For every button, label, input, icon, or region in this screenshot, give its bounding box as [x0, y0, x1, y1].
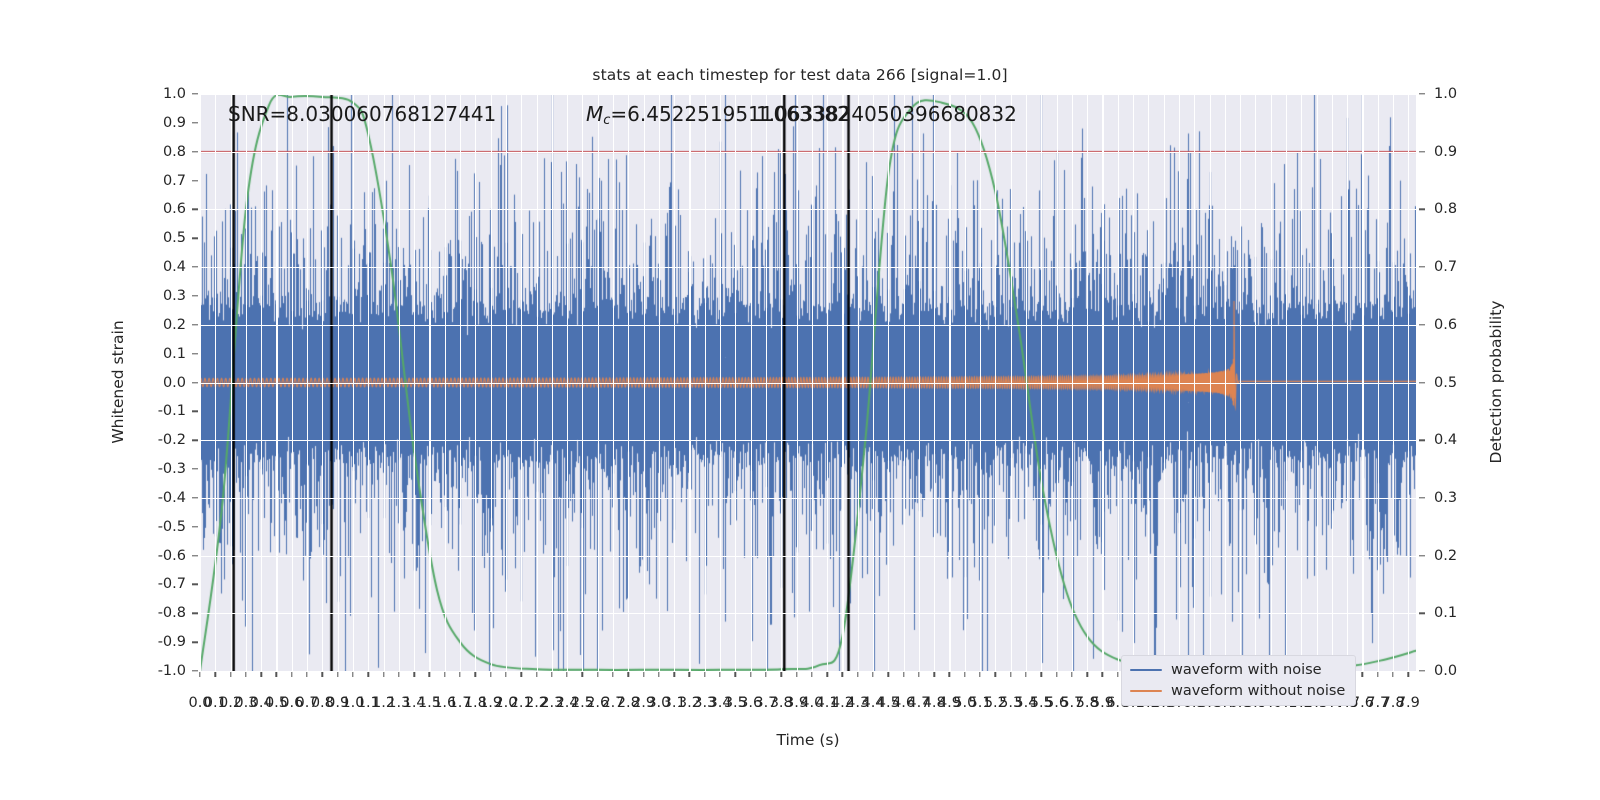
y-axis-left-tick-mark	[192, 353, 198, 354]
x-axis-tick-mark	[215, 672, 216, 677]
x-axis-tick-mark	[857, 672, 858, 677]
y-axis-right-tick-mark	[1419, 439, 1425, 440]
gridline-vertical	[720, 94, 721, 671]
overlap-annotation: 1.0633824050396680832	[756, 102, 1017, 126]
x-axis-tick-mark	[643, 672, 644, 677]
legend-swatch-orange	[1130, 690, 1162, 693]
y-axis-right-tick-mark	[1419, 324, 1425, 325]
x-axis-tick-mark	[352, 672, 353, 677]
gridline-vertical	[980, 94, 981, 671]
y-axis-left-tick-mark	[192, 324, 198, 325]
y-axis-right-tick-mark	[1419, 670, 1425, 671]
x-axis-tick-mark	[536, 672, 537, 677]
gridline-vertical	[735, 94, 736, 671]
y-axis-left-tick-mark	[192, 209, 198, 210]
x-axis-tick-mark	[459, 672, 460, 677]
x-axis-tick-mark	[1408, 672, 1409, 677]
gridline-vertical	[827, 94, 828, 671]
y-axis-left-tick-label: -0.2	[130, 432, 186, 448]
gridline-vertical	[521, 94, 522, 671]
gridline-vertical	[1148, 94, 1149, 671]
y-axis-left-tick-label: 0.7	[130, 173, 186, 189]
x-axis-tick-mark	[811, 672, 812, 677]
y-axis-left-tick-mark	[192, 238, 198, 239]
y-axis-right-tick-label: 1.0	[1434, 86, 1490, 102]
legend[interactable]: waveform with noise waveform without noi…	[1121, 655, 1356, 706]
y-axis-left-tick-mark	[192, 641, 198, 642]
x-axis-tick-mark	[918, 672, 919, 677]
gridline-vertical	[919, 94, 920, 671]
y-axis-right-tick-mark	[1419, 151, 1425, 152]
x-axis-tick-mark	[673, 672, 674, 677]
y-axis-left-tick-label: 0.8	[130, 144, 186, 160]
gridline-vertical	[858, 94, 859, 671]
x-axis-tick-mark	[933, 672, 934, 677]
x-axis-tick-mark	[826, 672, 827, 677]
y-axis-right-tick-label: 0.6	[1434, 317, 1490, 333]
gridline-vertical	[1271, 94, 1272, 671]
y-axis-right-tick-mark	[1419, 497, 1425, 498]
x-axis-tick-mark	[566, 672, 567, 677]
y-axis-right-tick-label: 0.1	[1434, 605, 1490, 621]
y-axis-left-tick-label: -0.5	[130, 519, 186, 535]
gridline-vertical	[1164, 94, 1165, 671]
gridline-vertical	[1194, 94, 1195, 671]
gridline-vertical	[1133, 94, 1134, 671]
y-axis-right-tick-mark	[1419, 555, 1425, 556]
x-axis-tick-mark	[949, 672, 950, 677]
gridline-vertical	[292, 94, 293, 671]
gridline-horizontal	[200, 498, 1416, 499]
x-axis-tick-mark	[979, 672, 980, 677]
y-axis-left-tick-label: -0.8	[130, 605, 186, 621]
y-axis-left-tick-label: -0.9	[130, 634, 186, 650]
x-axis-tick-mark	[322, 672, 323, 677]
gridline-vertical	[598, 94, 599, 671]
gridline-horizontal	[200, 94, 1416, 95]
y-axis-left-tick-label: -0.4	[130, 490, 186, 506]
gridline-vertical	[1087, 94, 1088, 671]
y-axis-left-tick-mark	[192, 584, 198, 585]
y-axis-left-tick-label: 0.3	[130, 288, 186, 304]
gridline-vertical	[582, 94, 583, 671]
x-axis-tick-mark	[306, 672, 307, 677]
y-axis-right-tick-mark	[1419, 93, 1425, 94]
gridline-vertical	[1393, 94, 1394, 671]
x-axis-tick-mark	[429, 672, 430, 677]
y-axis-left-tick-label: -0.7	[130, 576, 186, 592]
gridline-vertical	[1057, 94, 1058, 671]
x-axis-tick-mark	[398, 672, 399, 677]
y-axis-left-tick-label: 1.0	[130, 86, 186, 102]
gridline-vertical	[705, 94, 706, 671]
x-axis-tick-mark	[872, 672, 873, 677]
gridline-vertical	[689, 94, 690, 671]
y-axis-left-tick-label: -0.3	[130, 461, 186, 477]
snr-annotation: SNR=8.030060768127441	[228, 102, 496, 126]
page-title: stats at each timestep for test data 266…	[0, 66, 1600, 84]
x-axis-tick-label: 7.9	[1397, 695, 1420, 711]
y-axis-left-tick-label: 0.1	[130, 346, 186, 362]
gridline-vertical	[1118, 94, 1119, 671]
plot-area	[200, 94, 1416, 671]
gridline-vertical	[1225, 94, 1226, 671]
gridline-vertical	[215, 94, 216, 671]
gridline-horizontal	[200, 383, 1416, 384]
gridline-vertical	[812, 94, 813, 671]
x-axis-tick-mark	[689, 672, 690, 677]
x-axis-tick-mark	[1071, 672, 1072, 677]
x-axis-tick-mark	[413, 672, 414, 677]
y-axis-left-tick-mark	[192, 122, 198, 123]
gridline-vertical	[674, 94, 675, 671]
gridline-vertical	[246, 94, 247, 671]
gridline-vertical	[353, 94, 354, 671]
gridline-vertical	[1347, 94, 1348, 671]
gridline-vertical	[567, 94, 568, 671]
y-axis-left-tick-label: -0.1	[130, 403, 186, 419]
y-axis-right-tick-label: 0.2	[1434, 548, 1490, 564]
legend-label-1: waveform without noise	[1171, 683, 1345, 699]
gridline-horizontal	[200, 613, 1416, 614]
y-axis-left-tick-mark	[192, 439, 198, 440]
gridline-vertical	[1011, 94, 1012, 671]
gridline-vertical	[1286, 94, 1287, 671]
gridline-vertical	[1072, 94, 1073, 671]
legend-item-waveform-with-noise[interactable]: waveform with noise	[1130, 662, 1345, 678]
gridline-horizontal	[200, 440, 1416, 441]
gridline-vertical	[934, 94, 935, 671]
y-axis-left-tick-label: -1.0	[130, 663, 186, 679]
y-axis-left-tick-mark	[192, 295, 198, 296]
x-axis-tick-mark	[1392, 672, 1393, 677]
x-axis-tick-mark	[1102, 672, 1103, 677]
gridline-vertical	[949, 94, 950, 671]
y-axis-right-tick-label: 0.8	[1434, 201, 1490, 217]
legend-item-waveform-without-noise[interactable]: waveform without noise	[1130, 683, 1345, 699]
gridline-vertical	[781, 94, 782, 671]
y-axis-right-title: Detection probability	[1487, 301, 1505, 464]
y-axis-right-tick-mark	[1419, 382, 1425, 383]
gridline-vertical	[842, 94, 843, 671]
y-axis-left-tick-mark	[192, 266, 198, 267]
x-axis-title: Time (s)	[776, 731, 839, 749]
gridline-vertical	[797, 94, 798, 671]
x-axis-tick-mark	[1010, 672, 1011, 677]
gridline-vertical	[276, 94, 277, 671]
gridline-vertical	[1026, 94, 1027, 671]
gridline-vertical	[475, 94, 476, 671]
x-axis-tick-mark	[582, 672, 583, 677]
y-axis-left-tick-label: -0.6	[130, 548, 186, 564]
gridline-vertical	[261, 94, 262, 671]
figure-canvas: stats at each timestep for test data 266…	[0, 0, 1600, 800]
y-axis-left-tick-mark	[192, 382, 198, 383]
x-axis-tick-mark	[719, 672, 720, 677]
y-axis-right-tick-label: 0.5	[1434, 375, 1490, 391]
gridline-vertical	[414, 94, 415, 671]
gridline-vertical	[537, 94, 538, 671]
x-axis-tick-mark	[781, 672, 782, 677]
gridline-vertical	[1102, 94, 1103, 671]
gridline-vertical	[766, 94, 767, 671]
x-axis-tick-mark	[1041, 672, 1042, 677]
y-axis-left-tick-mark	[192, 526, 198, 527]
gridline-vertical	[1301, 94, 1302, 671]
y-axis-left-tick-label: 0.9	[130, 115, 186, 131]
x-axis-tick-mark	[765, 672, 766, 677]
gridline-vertical	[1041, 94, 1042, 671]
gridline-vertical	[552, 94, 553, 671]
gridline-vertical	[613, 94, 614, 671]
x-axis-tick-mark	[903, 672, 904, 677]
x-axis-tick-mark	[597, 672, 598, 677]
gridline-vertical	[1408, 94, 1409, 671]
y-axis-left-tick-mark	[192, 151, 198, 152]
y-axis-right-tick-label: 0.0	[1434, 663, 1490, 679]
y-axis-right-tick-label: 0.9	[1434, 144, 1490, 160]
y-axis-right-tick-label: 0.3	[1434, 490, 1490, 506]
gridline-horizontal	[200, 325, 1416, 326]
gridline-vertical	[904, 94, 905, 671]
gridline-vertical	[888, 94, 889, 671]
gridline-vertical	[965, 94, 966, 671]
y-axis-left-tick-label: 0.5	[130, 230, 186, 246]
y-axis-left-tick-mark	[192, 670, 198, 671]
y-axis-left-tick-mark	[192, 555, 198, 556]
gridline-vertical	[460, 94, 461, 671]
gridline-vertical	[659, 94, 660, 671]
x-axis-tick-mark	[750, 672, 751, 677]
x-axis-tick-mark	[995, 672, 996, 677]
x-axis-tick-mark	[842, 672, 843, 677]
x-axis-tick-mark	[505, 672, 506, 677]
x-axis-tick-mark	[1086, 672, 1087, 677]
y-axis-left-tick-mark	[192, 180, 198, 181]
x-axis-tick-mark	[1362, 672, 1363, 677]
gridline-vertical	[322, 94, 323, 671]
gridline-vertical	[995, 94, 996, 671]
y-axis-right-tick-mark	[1419, 266, 1425, 267]
x-axis-tick-mark	[368, 672, 369, 677]
x-axis-tick-mark	[704, 672, 705, 677]
y-axis-left-tick-mark	[192, 613, 198, 614]
y-axis-left-title: Whitened strain	[109, 320, 127, 443]
x-axis-tick-mark	[735, 672, 736, 677]
gridline-horizontal	[200, 267, 1416, 268]
gridline-vertical	[445, 94, 446, 671]
legend-swatch-blue	[1130, 669, 1162, 672]
gridline-vertical	[429, 94, 430, 671]
y-axis-left-tick-mark	[192, 497, 198, 498]
x-axis-tick-mark	[475, 672, 476, 677]
gridline-vertical	[200, 94, 201, 671]
gridline-vertical	[1210, 94, 1211, 671]
x-axis-tick-mark	[276, 672, 277, 677]
gridline-vertical	[1378, 94, 1379, 671]
x-axis-tick-mark	[1025, 672, 1026, 677]
gridline-vertical	[1332, 94, 1333, 671]
x-axis-tick-mark	[444, 672, 445, 677]
gridline-horizontal	[200, 556, 1416, 557]
x-axis-tick-mark	[490, 672, 491, 677]
gridline-vertical	[506, 94, 507, 671]
mc-symbol: M	[586, 102, 603, 126]
x-axis-tick-mark	[337, 672, 338, 677]
y-axis-left-tick-label: 0.0	[130, 375, 186, 391]
y-axis-right-tick-label: 0.4	[1434, 432, 1490, 448]
x-axis-tick-mark	[1056, 672, 1057, 677]
x-axis-tick-mark	[551, 672, 552, 677]
y-axis-left-tick-label: 0.6	[130, 201, 186, 217]
x-axis-tick-mark	[291, 672, 292, 677]
x-axis-tick-mark	[964, 672, 965, 677]
y-axis-left-tick-label: 0.4	[130, 259, 186, 275]
gridline-vertical	[751, 94, 752, 671]
gridline-vertical	[628, 94, 629, 671]
gridline-vertical	[307, 94, 308, 671]
y-axis-left-tick-label: 0.2	[130, 317, 186, 333]
x-axis-tick-mark	[245, 672, 246, 677]
y-axis-right-tick-mark	[1419, 209, 1425, 210]
x-axis-tick-mark	[888, 672, 889, 677]
y-axis-left-tick-mark	[192, 93, 198, 94]
gridline-horizontal	[200, 209, 1416, 210]
gridline-vertical	[399, 94, 400, 671]
x-axis-tick-mark	[260, 672, 261, 677]
y-axis-right-tick-label: 0.7	[1434, 259, 1490, 275]
y-axis-left-tick-mark	[192, 411, 198, 412]
gridline-vertical	[873, 94, 874, 671]
gridline-vertical	[1240, 94, 1241, 671]
x-axis-tick-mark	[521, 672, 522, 677]
gridline-vertical	[1362, 94, 1363, 671]
gridline-vertical	[231, 94, 232, 671]
x-axis-tick-mark	[1117, 672, 1118, 677]
x-axis-tick-mark	[383, 672, 384, 677]
y-axis-left-tick-mark	[192, 468, 198, 469]
x-axis-tick-mark	[230, 672, 231, 677]
x-axis-tick-mark	[658, 672, 659, 677]
x-axis-tick-mark	[612, 672, 613, 677]
y-axis-right-tick-mark	[1419, 613, 1425, 614]
gridline-vertical	[644, 94, 645, 671]
gridline-vertical	[368, 94, 369, 671]
gridline-vertical	[1255, 94, 1256, 671]
gridline-vertical	[1179, 94, 1180, 671]
gridline-vertical	[491, 94, 492, 671]
x-axis-tick-mark	[628, 672, 629, 677]
gridline-vertical	[1317, 94, 1318, 671]
gridline-vertical	[338, 94, 339, 671]
x-axis-tick-mark	[796, 672, 797, 677]
gridline-horizontal	[200, 152, 1416, 153]
x-axis-tick-mark	[199, 672, 200, 677]
gridline-vertical	[384, 94, 385, 671]
x-axis-tick-mark	[1377, 672, 1378, 677]
legend-label-0: waveform with noise	[1171, 662, 1322, 678]
